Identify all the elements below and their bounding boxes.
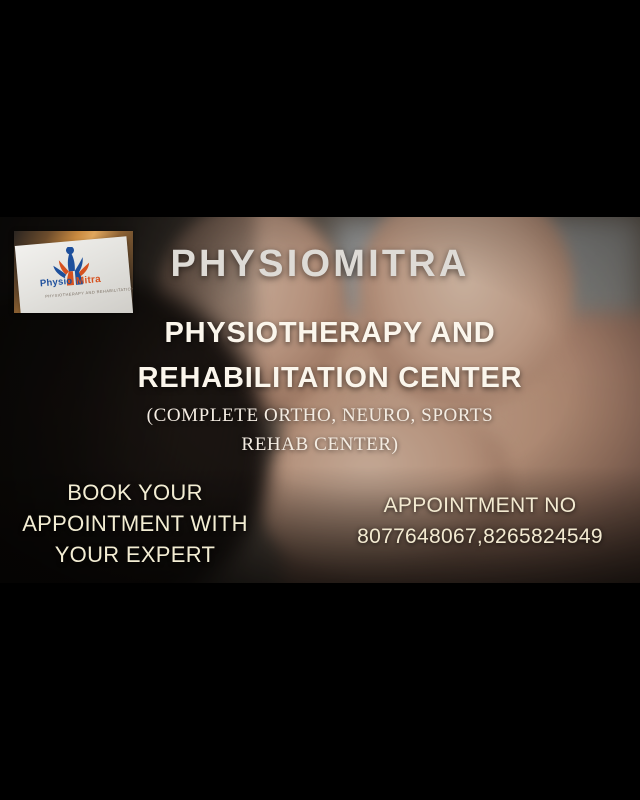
appointment-contact: APPOINTMENT NO 8077648067,8265824549 bbox=[345, 490, 615, 552]
booking-callout-line-3: YOUR EXPERT bbox=[10, 539, 260, 570]
service-title-line-1: PHYSIOTHERAPY AND bbox=[60, 311, 600, 356]
booking-callout: BOOK YOUR APPOINTMENT WITH YOUR EXPERT bbox=[10, 477, 260, 570]
poster-root: Physio Mitra PHYSIOTHERAPY AND REHABILIT… bbox=[0, 0, 640, 800]
service-title: PHYSIOTHERAPY AND REHABILITATION CENTER bbox=[60, 311, 600, 401]
service-scope-line-2: REHAB CENTER) bbox=[40, 430, 600, 459]
appointment-label: APPOINTMENT NO bbox=[345, 490, 615, 521]
service-scope: (COMPLETE ORTHO, NEURO, SPORTS REHAB CEN… bbox=[40, 401, 600, 459]
brand-title: PHYSIOMITRA bbox=[0, 242, 640, 286]
service-scope-line-1: (COMPLETE ORTHO, NEURO, SPORTS bbox=[40, 401, 600, 430]
service-title-line-2: REHABILITATION CENTER bbox=[60, 356, 600, 401]
booking-callout-line-2: APPOINTMENT WITH bbox=[10, 508, 260, 539]
booking-callout-line-1: BOOK YOUR bbox=[10, 477, 260, 508]
appointment-phone-numbers[interactable]: 8077648067,8265824549 bbox=[345, 521, 615, 552]
